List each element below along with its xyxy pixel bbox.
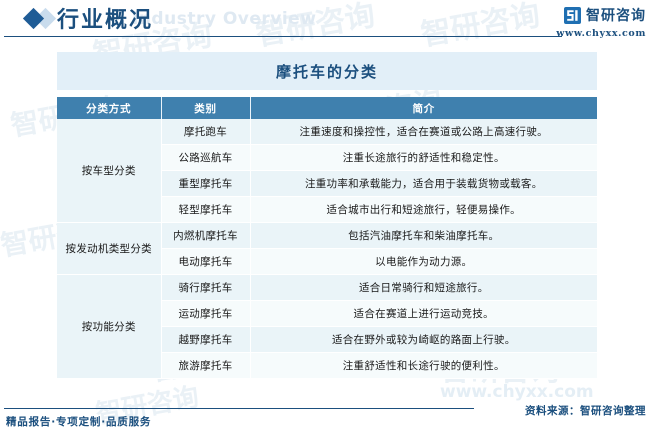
table-row: 按功能分类骑行摩托车适合日常骑行和短途旅行。 [57,275,597,301]
description-cell: 以电能作为动力源。 [250,249,597,275]
category-cell: 重型摩托车 [161,171,250,197]
brand-name: 智研咨询 [586,5,646,25]
table-card: 摩托车的分类 分类方式 类别 简介 按车型分类摩托跑车注重速度和操控性，适合在赛… [57,52,597,379]
category-cell: 骑行摩托车 [161,275,250,301]
table-row: 按发动机类型分类内燃机摩托车包括汽油摩托车和柴油摩托车。 [57,223,597,249]
brand-block: 智研咨询 www.chyxx.com [556,5,646,39]
group-label-cell: 按功能分类 [57,275,161,379]
watermark-text: www.chyxx.com [440,382,594,402]
table-row: 按车型分类摩托跑车注重速度和操控性，适合在赛道或公路上高速行驶。 [57,119,597,145]
column-header-method: 分类方式 [57,97,161,119]
description-cell: 注重舒适性和长途行驶的便利性。 [250,353,597,379]
classification-table: 分类方式 类别 简介 按车型分类摩托跑车注重速度和操控性，适合在赛道或公路上高速… [57,97,597,379]
footer-divider [4,408,474,409]
description-cell: 适合在赛道上进行运动竞技。 [250,301,597,327]
column-header-category: 类别 [161,97,250,119]
category-cell: 运动摩托车 [161,301,250,327]
description-cell: 注重速度和操控性，适合在赛道或公路上高速行驶。 [250,119,597,145]
description-cell: 注重长途旅行的舒适性和稳定性。 [250,145,597,171]
table-header-row: 分类方式 类别 简介 [57,97,597,119]
page-title: 行业概况 [57,2,153,34]
page-header: Industry Overview 行业概况 智研咨询 www.chyxx.co… [0,0,654,46]
group-label-cell: 按发动机类型分类 [57,223,161,275]
category-cell: 旅游摩托车 [161,353,250,379]
header-subtitle: Industry Overview [132,9,316,29]
table-body: 按车型分类摩托跑车注重速度和操控性，适合在赛道或公路上高速行驶。公路巡航车注重长… [57,119,597,379]
zhiyan-logo-icon [564,7,581,24]
category-cell: 内燃机摩托车 [161,223,250,249]
footer-source: 资料来源：智研咨询整理 [525,403,646,418]
description-cell: 适合城市出行和短途旅行，轻便易操作。 [250,197,597,223]
table-title: 摩托车的分类 [276,61,378,82]
description-cell: 注重功率和承载能力，适合用于装载货物或载客。 [250,171,597,197]
category-cell: 越野摩托车 [161,327,250,353]
header-divider [4,36,562,37]
description-cell: 包括汽油摩托车和柴油摩托车。 [250,223,597,249]
description-cell: 适合日常骑行和短途旅行。 [250,275,597,301]
category-cell: 电动摩托车 [161,249,250,275]
group-label-cell: 按车型分类 [57,119,161,223]
category-cell: 公路巡航车 [161,145,250,171]
description-cell: 适合在野外或较为崎岖的路面上行驶。 [250,327,597,353]
table-title-band: 摩托车的分类 [57,52,597,90]
category-cell: 摩托跑车 [161,119,250,145]
brand-url: www.chyxx.com [556,28,646,39]
column-header-description: 简介 [250,97,597,119]
footer-slogan: 精品报告·专项定制·品质服务 [6,414,151,429]
category-cell: 轻型摩托车 [161,197,250,223]
